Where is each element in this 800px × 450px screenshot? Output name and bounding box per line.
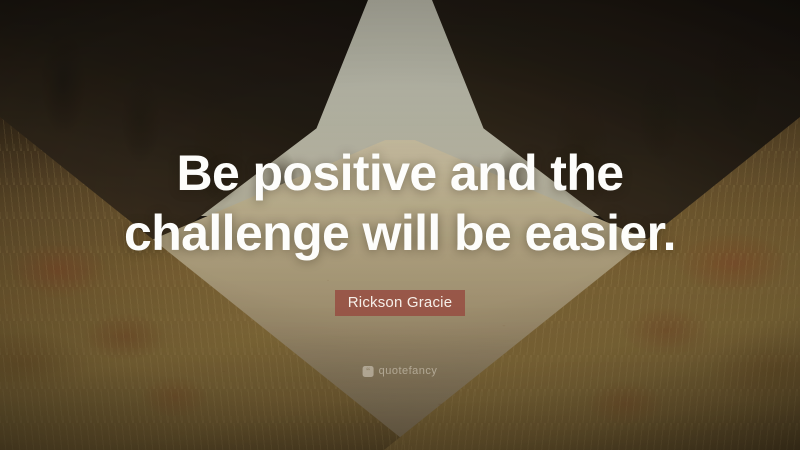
quote-line-2: challenge will be easier. (50, 204, 750, 262)
watermark-brand-label: quotefancy (379, 366, 438, 377)
watermark: “ quotefancy (363, 366, 438, 377)
quote-line-1: Be positive and the (50, 144, 750, 202)
author-badge: Rickson Gracie (335, 290, 466, 316)
quote-image-canvas: Be positive and the challenge will be ea… (0, 0, 800, 450)
quote-overlay: Be positive and the challenge will be ea… (0, 0, 800, 450)
quote-mark-icon: “ (363, 366, 374, 377)
